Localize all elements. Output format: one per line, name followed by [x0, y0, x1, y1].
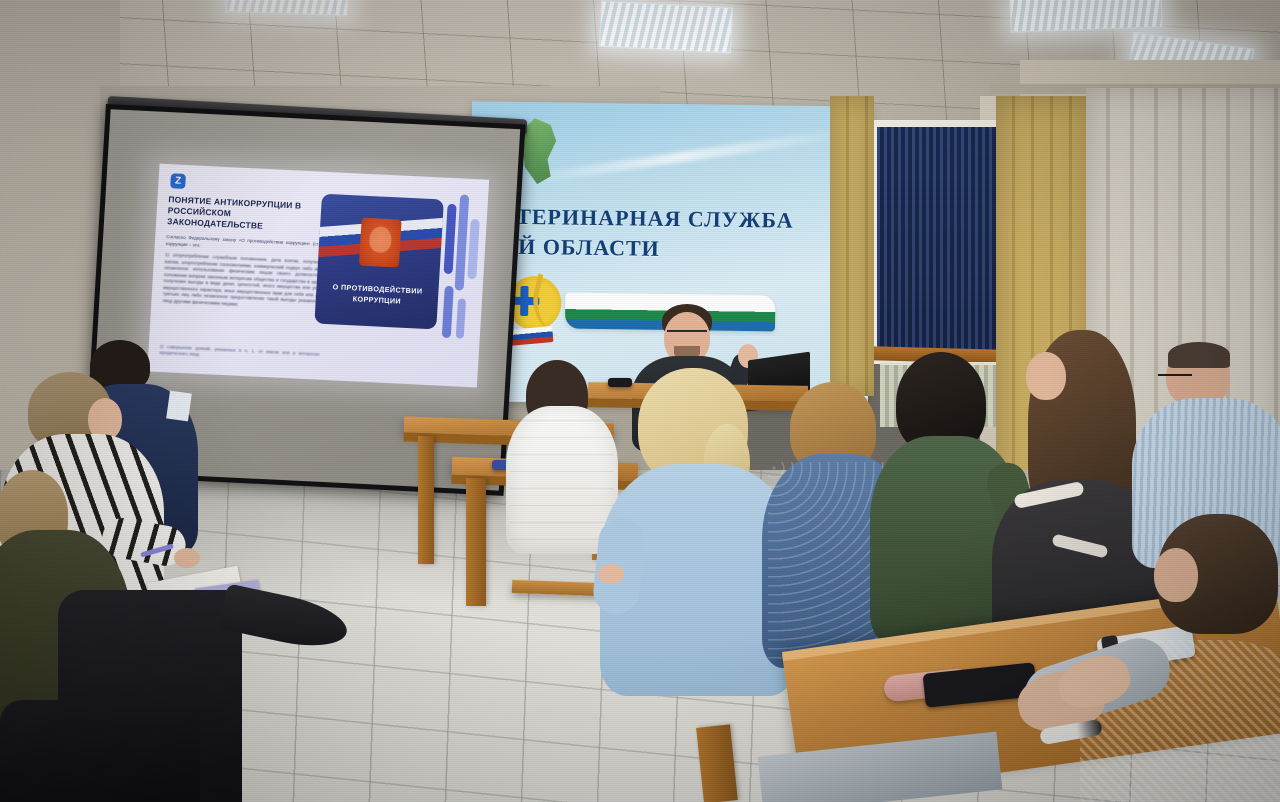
attendee-legs	[0, 700, 200, 802]
slide-card-caption: О ПРОТИВОДЕЙСТВИИ КОРРУПЦИИ	[316, 282, 439, 310]
attendee-head	[1154, 548, 1198, 602]
slide-decorative-bars	[437, 194, 488, 346]
conference-room-photo: ЕТЕРИНАРНАЯ СЛУЖБА ОЙ ОБЛАСТИ	[0, 0, 1280, 802]
banner-title-line2: ОЙ ОБЛАСТИ	[500, 231, 850, 266]
attendee-head	[1026, 352, 1066, 400]
window-curtain	[877, 127, 1003, 357]
attendee-hand	[598, 564, 624, 584]
projected-slide: Z ПОНЯТИЕ АНТИКОРРУПЦИИ В РОССИЙСКОМ ЗАК…	[147, 164, 489, 388]
ceiling-light-panel	[1009, 0, 1162, 33]
slide-lead-text: Согласно Федеральному закону «О противод…	[166, 234, 327, 255]
attendee-hand	[174, 548, 200, 568]
attendee-collar	[166, 391, 192, 422]
slide-illustration-card: О ПРОТИВОДЕЙСТВИИ КОРРУПЦИИ	[314, 194, 444, 330]
slide-title: ПОНЯТИЕ АНТИКОРРУПЦИИ В РОССИЙСКОМ ЗАКОН…	[167, 194, 329, 235]
presenter-glasses-icon	[667, 330, 707, 340]
window	[870, 120, 1010, 364]
banner-sky-streak	[512, 128, 850, 186]
slide-logo-icon: Z	[170, 173, 186, 189]
vertical-blinds-left[interactable]	[830, 96, 874, 396]
attendee-glasses-icon	[1158, 374, 1192, 384]
coat-of-arms-icon	[359, 218, 402, 268]
banner-title-line1: ЕТЕРИНАРНАЯ СЛУЖБА	[500, 202, 850, 237]
presenter-desk-phone	[608, 378, 632, 387]
puffer-quilting	[510, 420, 614, 550]
banner-title: ЕТЕРИНАРНАЯ СЛУЖБА ОЙ ОБЛАСТИ	[500, 202, 851, 266]
desk-leg	[418, 436, 434, 564]
desk-leg	[466, 478, 486, 606]
slide-body-text: 1) злоупотребление служебным положением,…	[162, 252, 325, 312]
slide-body-text-2: 2) совершение деяний, указанных в п. 1, …	[159, 344, 320, 365]
ceiling-light-panel	[599, 1, 733, 54]
attendee-hair-balding	[1168, 342, 1230, 368]
